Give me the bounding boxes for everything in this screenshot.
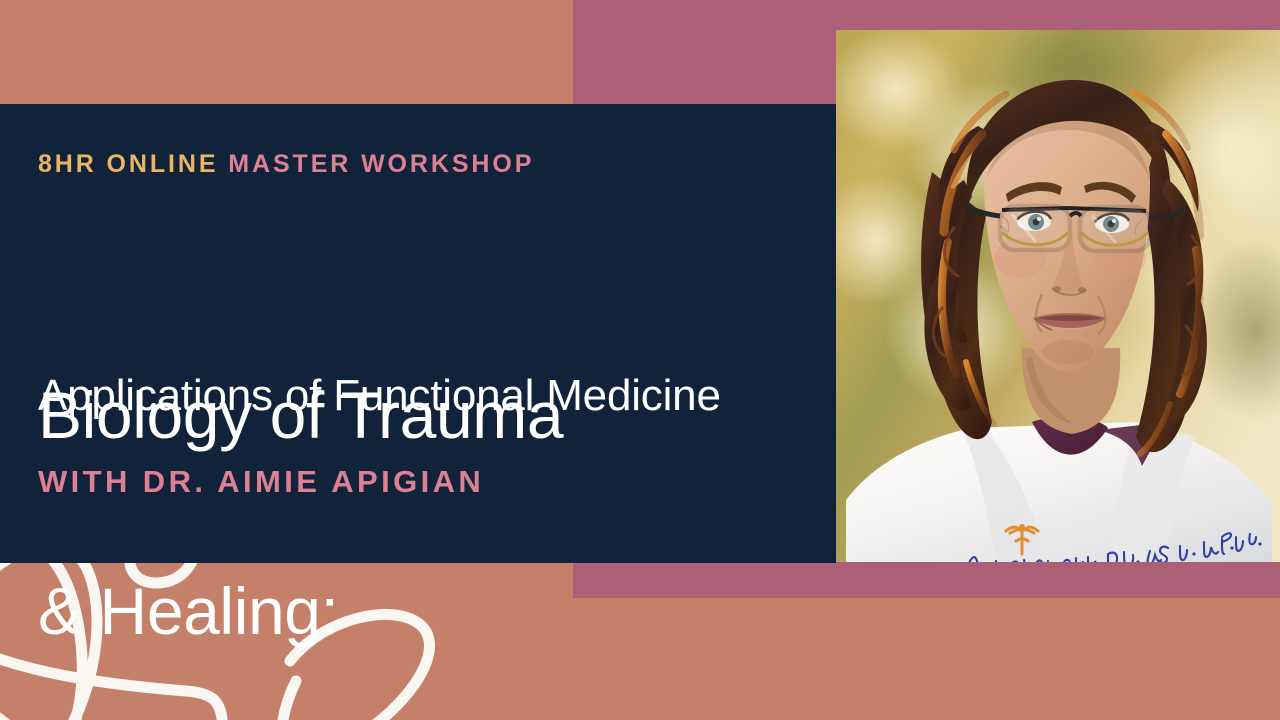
subtitle: Applications of Functional Medicine [38, 374, 721, 418]
eyebrow-line: 8HR ONLINE MASTER WORKSHOP [38, 152, 534, 177]
presenter-portrait-photo [836, 30, 1280, 562]
eyebrow-type-label: MASTER WORKSHOP [228, 150, 534, 178]
presenter-credit: WITH DR. AIMIE APIGIAN [38, 466, 484, 497]
title-line-2: & Healing: [38, 579, 563, 644]
workshop-promo-banner: 8HR ONLINE MASTER WORKSHOP Biology of Tr… [0, 0, 1280, 720]
background-mauve-bottom-band [573, 562, 1280, 598]
headline-text-column: 8HR ONLINE MASTER WORKSHOP Biology of Tr… [38, 104, 828, 563]
eyebrow-duration-label: 8HR ONLINE [38, 150, 218, 178]
